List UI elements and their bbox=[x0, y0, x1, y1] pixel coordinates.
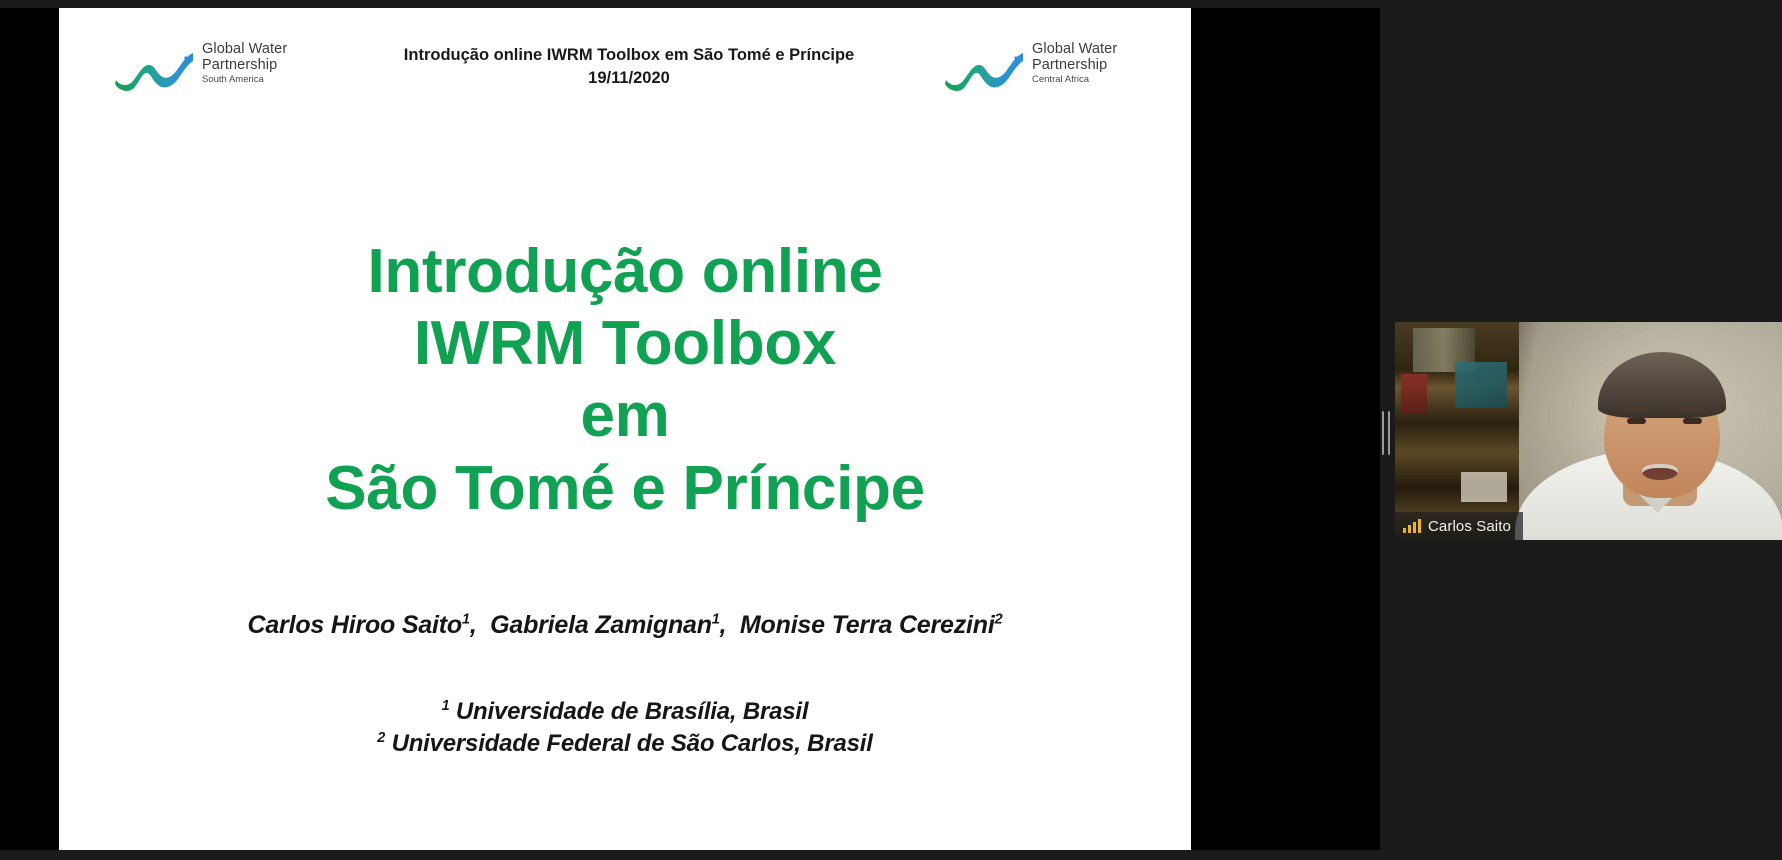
drag-handle-bar bbox=[1382, 411, 1384, 455]
screen-share-stage: Global Water Partnership South America I… bbox=[0, 0, 1782, 860]
author-3-name: Monise Terra Cerezini bbox=[740, 611, 995, 639]
background-bookshelf bbox=[1395, 322, 1519, 540]
slide-main-title: Introdução online IWRM Toolbox em São To… bbox=[59, 236, 1191, 525]
gwp-wave-logo-icon bbox=[114, 48, 196, 92]
slide-header-title: Introdução online IWRM Toolbox em São To… bbox=[339, 44, 919, 91]
audio-bar bbox=[1413, 522, 1416, 533]
logo-left-region: South America bbox=[202, 75, 322, 85]
gwp-wave-logo-icon bbox=[944, 48, 1026, 92]
subject-eye-left bbox=[1627, 418, 1646, 424]
shared-screen-viewport[interactable]: Global Water Partnership South America I… bbox=[0, 8, 1380, 860]
logo-right-text: Global Water Partnership Central Africa bbox=[1032, 42, 1152, 86]
logo-left-text: Global Water Partnership South America bbox=[202, 42, 322, 86]
affiliation-2: 2 Universidade Federal de São Carlos, Br… bbox=[59, 728, 1191, 760]
participant-video-tile[interactable]: Carlos Saito bbox=[1395, 322, 1782, 540]
logo-left-line1: Global Water bbox=[202, 42, 322, 58]
logo-right-region: Central Africa bbox=[1032, 75, 1152, 85]
slide-title-line-1: Introdução online bbox=[59, 236, 1191, 308]
author-3: Monise Terra Cerezini2 bbox=[740, 611, 1003, 639]
logo-right-line2: Partnership bbox=[1032, 58, 1152, 74]
affiliation-1-marker: 1 bbox=[442, 698, 450, 714]
subject-eyebrow-right bbox=[1681, 408, 1704, 412]
background-object-paper bbox=[1461, 472, 1507, 502]
affiliation-1: 1 Universidade de Brasília, Brasil bbox=[59, 696, 1191, 728]
slide-title-line-4: São Tomé e Príncipe bbox=[59, 453, 1191, 525]
author-3-affiliation-marker: 2 bbox=[995, 612, 1003, 628]
affiliation-2-marker: 2 bbox=[377, 730, 385, 746]
logo-gwp-south-america: Global Water Partnership South America bbox=[114, 42, 319, 98]
slide-affiliations: 1 Universidade de Brasília, Brasil 2 Uni… bbox=[59, 696, 1191, 759]
header-title-line1: Introdução online IWRM Toolbox em São To… bbox=[404, 46, 854, 64]
slide-header: Global Water Partnership South America I… bbox=[59, 8, 1191, 118]
audio-level-bars-icon bbox=[1403, 519, 1421, 533]
author-1: Carlos Hiroo Saito1 bbox=[248, 611, 470, 639]
author-2-name: Gabriela Zamignan bbox=[490, 611, 712, 639]
presentation-slide[interactable]: Global Water Partnership South America I… bbox=[59, 8, 1191, 857]
audio-bar bbox=[1408, 525, 1411, 533]
header-title-date: 19/11/2020 bbox=[339, 67, 919, 90]
author-2: Gabriela Zamignan1 bbox=[490, 611, 720, 639]
subject-hair bbox=[1598, 352, 1726, 418]
subject-eye-right bbox=[1683, 418, 1702, 424]
slide-title-line-2: IWRM Toolbox bbox=[59, 308, 1191, 380]
audio-bar bbox=[1403, 528, 1406, 533]
audio-bar bbox=[1418, 519, 1421, 533]
background-object-red bbox=[1401, 374, 1427, 414]
subject-eyebrow-left bbox=[1625, 408, 1648, 412]
participant-name-text: Carlos Saito bbox=[1428, 518, 1511, 535]
affiliation-2-text: Universidade Federal de São Carlos, Bras… bbox=[392, 730, 873, 757]
video-feed bbox=[1395, 322, 1782, 540]
drag-handle-icon[interactable] bbox=[1382, 411, 1390, 455]
subject-mouth bbox=[1642, 464, 1678, 480]
slide-title-line-3: em bbox=[59, 380, 1191, 452]
bottom-chrome-strip bbox=[0, 850, 1782, 860]
drag-handle-bar bbox=[1388, 411, 1390, 455]
author-1-name: Carlos Hiroo Saito bbox=[248, 611, 463, 639]
author-2-affiliation-marker: 1 bbox=[712, 612, 720, 628]
slide-authors: Carlos Hiroo Saito1, Gabriela Zamignan1,… bbox=[59, 611, 1191, 640]
logo-left-line2: Partnership bbox=[202, 58, 322, 74]
logo-gwp-central-africa: Global Water Partnership Central Africa bbox=[944, 42, 1149, 98]
affiliation-1-text: Universidade de Brasília, Brasil bbox=[456, 698, 808, 725]
author-1-affiliation-marker: 1 bbox=[462, 612, 470, 628]
participant-name-label: Carlos Saito bbox=[1395, 512, 1523, 540]
logo-right-line1: Global Water bbox=[1032, 42, 1152, 58]
